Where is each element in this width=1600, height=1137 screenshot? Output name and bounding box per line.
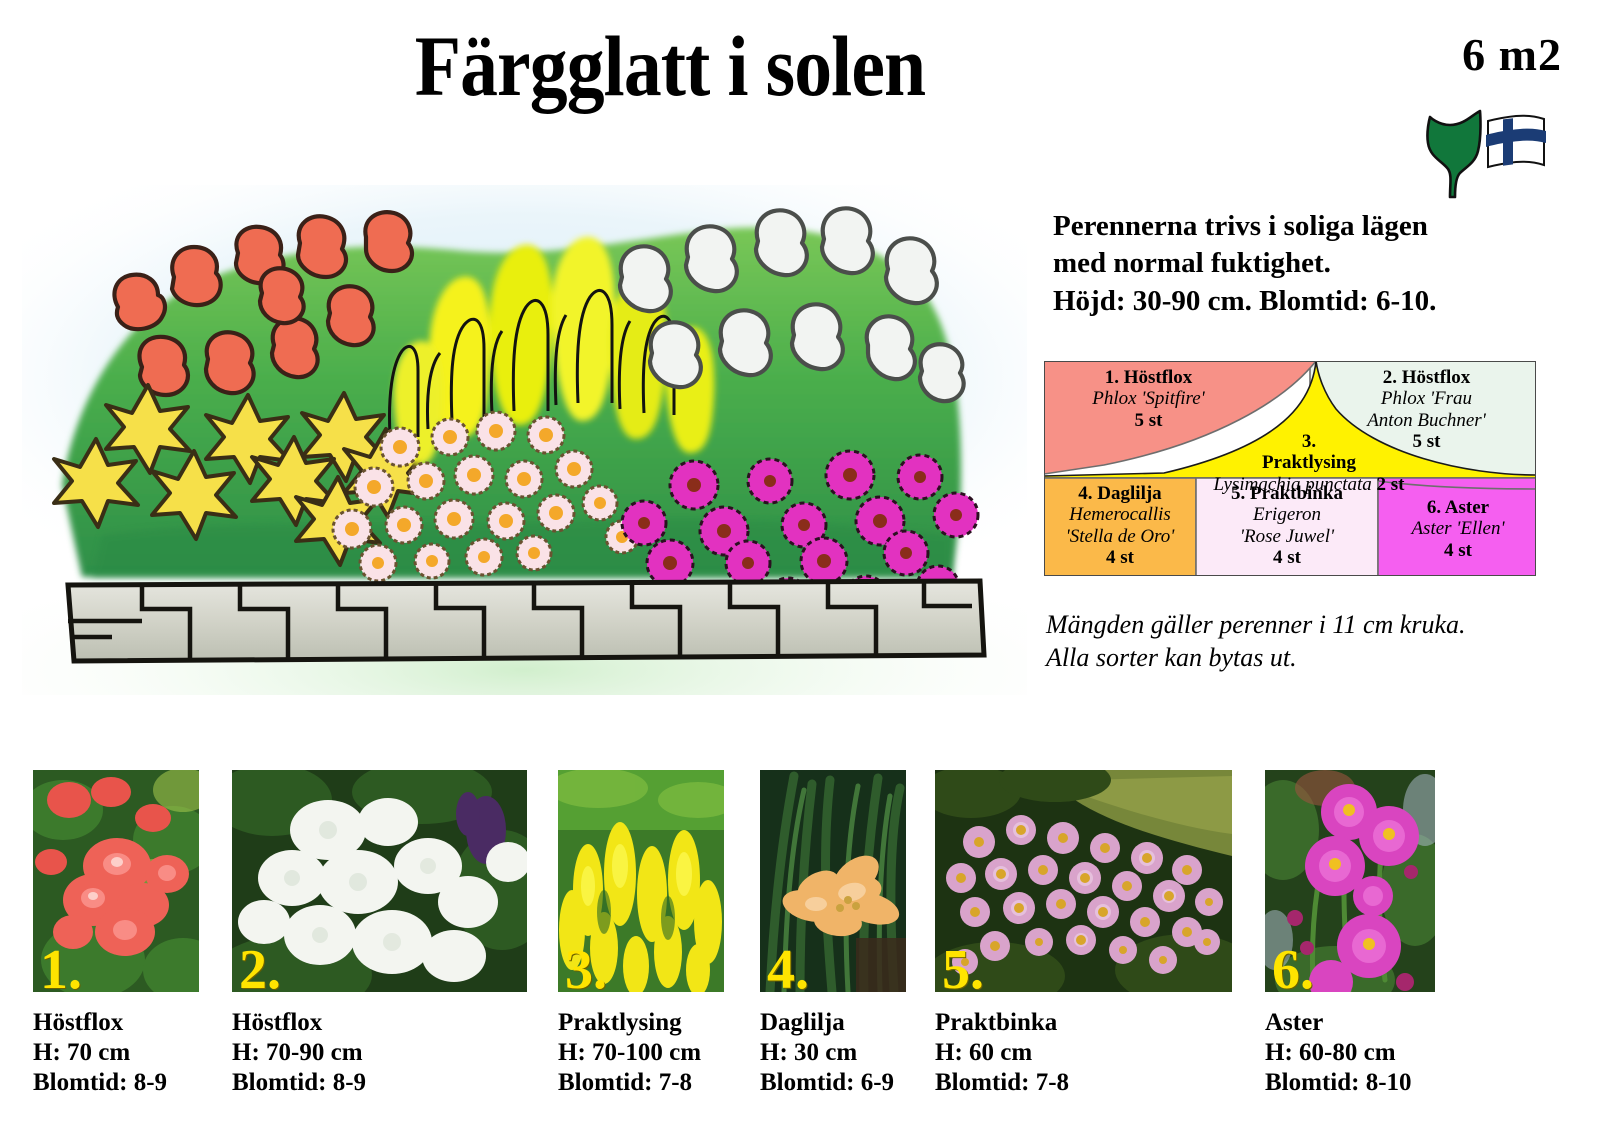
- photo-badge-3: 3.: [565, 942, 607, 992]
- photo-badge-1: 1.: [40, 942, 82, 992]
- gallery-item-5[interactable]: 5. Praktbinka H: 60 cm Blomtid: 7-8: [935, 770, 1245, 1098]
- gallery-bloom-2: Blomtid: 8-9: [232, 1068, 532, 1098]
- gallery-height-5: H: 60 cm: [935, 1038, 1245, 1068]
- photo-gallery: 1. Höstflox H: 70 cm Blomtid: 8-9: [0, 0, 1600, 1137]
- gallery-bloom-5: Blomtid: 7-8: [935, 1068, 1245, 1098]
- photo-hostflox-spitfire[interactable]: 1.: [33, 770, 199, 992]
- gallery-caption-2: Höstflox H: 70-90 cm Blomtid: 8-9: [232, 1008, 532, 1098]
- gallery-item-2[interactable]: 2. Höstflox H: 70-90 cm Blomtid: 8-9: [232, 770, 532, 1098]
- gallery-caption-6: Aster H: 60-80 cm Blomtid: 8-10: [1265, 1008, 1565, 1098]
- photo-hostflox-frau-anton-buchner[interactable]: 2.: [232, 770, 527, 992]
- gallery-name-2: Höstflox: [232, 1008, 532, 1038]
- gallery-caption-5: Praktbinka H: 60 cm Blomtid: 7-8: [935, 1008, 1245, 1098]
- photo-aster-ellen[interactable]: 6.: [1265, 770, 1435, 992]
- gallery-bloom-6: Blomtid: 8-10: [1265, 1068, 1565, 1098]
- gallery-name-6: Aster: [1265, 1008, 1565, 1038]
- photo-badge-4: 4.: [767, 942, 809, 992]
- gallery-height-6: H: 60-80 cm: [1265, 1038, 1565, 1068]
- photo-daglilja[interactable]: 4.: [760, 770, 906, 992]
- photo-praktbinka[interactable]: 5.: [935, 770, 1232, 992]
- photo-badge-6: 6.: [1272, 942, 1314, 992]
- photo-badge-5: 5.: [942, 942, 984, 992]
- gallery-height-2: H: 70-90 cm: [232, 1038, 532, 1068]
- gallery-item-6[interactable]: 6. Aster H: 60-80 cm Blomtid: 8-10: [1265, 770, 1565, 1098]
- gallery-name-5: Praktbinka: [935, 1008, 1245, 1038]
- photo-praktlysing[interactable]: 3.: [558, 770, 724, 992]
- photo-badge-2: 2.: [239, 942, 281, 992]
